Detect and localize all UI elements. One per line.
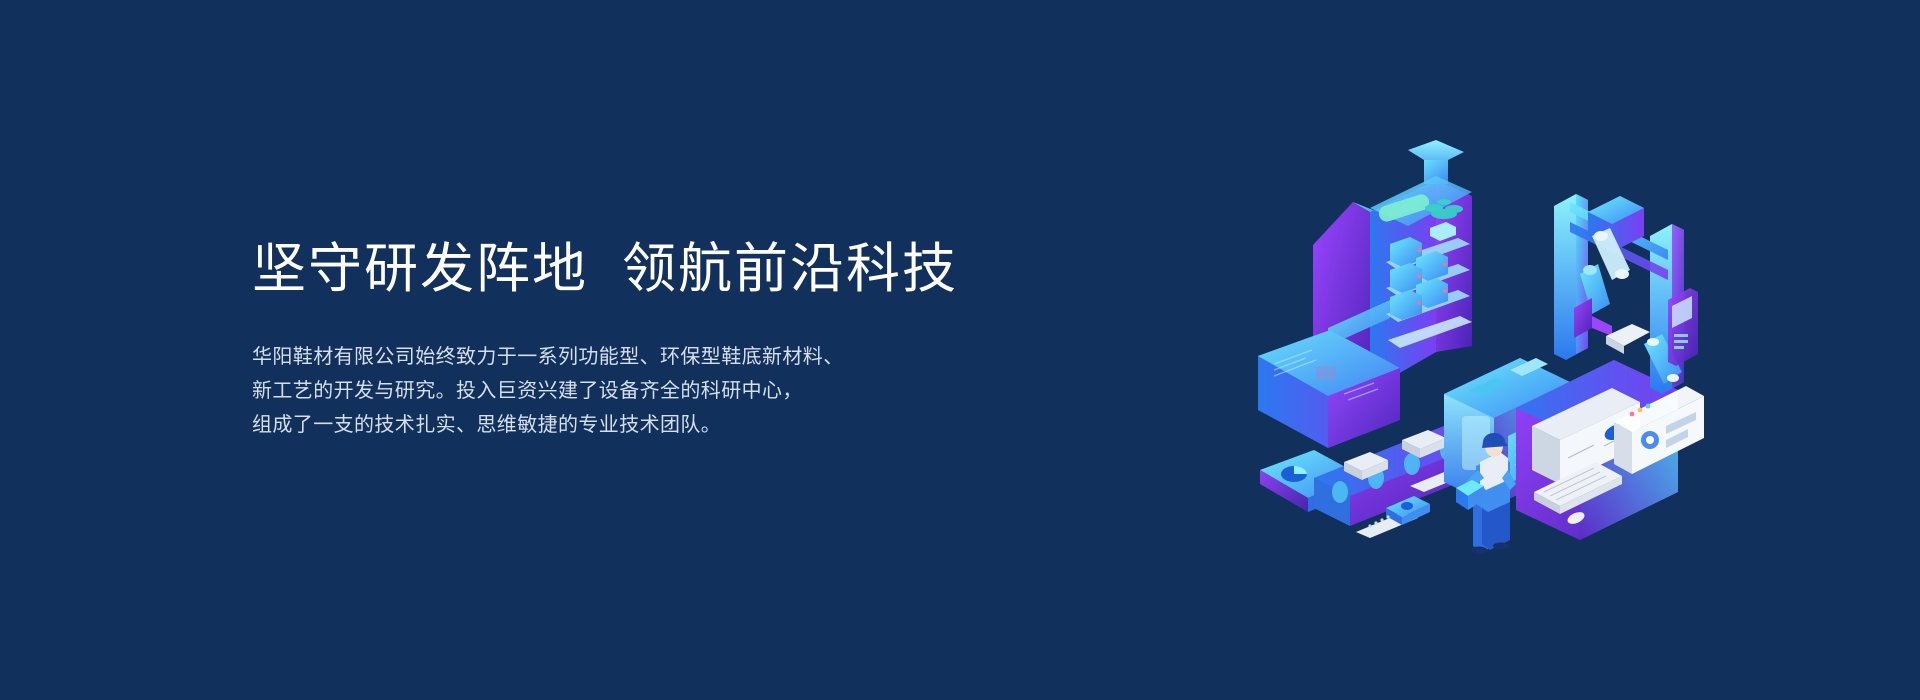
isometric-tech-illustration bbox=[1258, 140, 1718, 560]
description-line: 组成了一支的技术扎实、思维敏捷的专业技术团队。 bbox=[252, 408, 1012, 442]
description-line: 新工艺的开发与研究。投入巨资兴建了设备齐全的科研中心， bbox=[252, 374, 1012, 408]
description-line: 华阳鞋材有限公司始终致力于一系列功能型、环保型鞋底新材料、 bbox=[252, 340, 1012, 374]
robotic-arm-gantry bbox=[1554, 194, 1698, 394]
hero-text-block: 坚守研发阵地 领航前沿科技 华阳鞋材有限公司始终致力于一系列功能型、环保型鞋底新… bbox=[252, 238, 1012, 442]
pie-chart-icon bbox=[1281, 466, 1307, 482]
hero-banner: 坚守研发阵地 领航前沿科技 华阳鞋材有限公司始终致力于一系列功能型、环保型鞋底新… bbox=[0, 0, 1920, 700]
hero-description: 华阳鞋材有限公司始终致力于一系列功能型、环保型鞋底新材料、 新工艺的开发与研究。… bbox=[252, 340, 1012, 442]
page-title: 坚守研发阵地 领航前沿科技 bbox=[252, 238, 1012, 302]
